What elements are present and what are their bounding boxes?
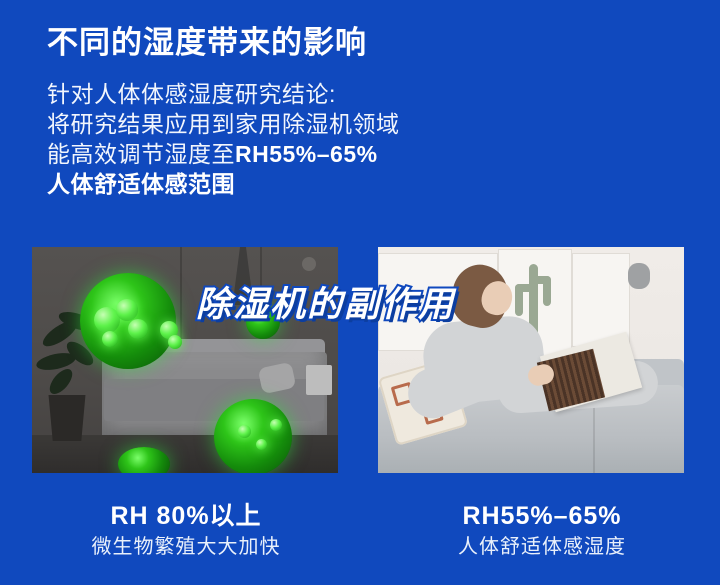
microbe-dot: [270, 419, 282, 431]
caption-left: RH 80%以上 微生物繁殖大大加快: [16, 500, 356, 562]
intro-line-2: 将研究结果应用到家用除湿机领域: [47, 109, 567, 139]
intro-line-3: 能高效调节湿度至RH55%–65%: [47, 139, 567, 169]
page-title: 不同的湿度带来的影响: [47, 17, 367, 62]
intro-line-4: 人体舒适体感范围: [47, 169, 567, 199]
plant-pot: [46, 395, 88, 441]
caption-left-main: RH 80%以上: [16, 500, 356, 532]
microbe-dot: [116, 299, 138, 321]
microbe-sphere: [118, 447, 170, 473]
side-table: [306, 365, 332, 395]
caption-right: RH55%–65% 人体舒适体感湿度: [372, 500, 712, 562]
microbe-dot: [256, 439, 267, 450]
caption-left-sub: 微生物繁殖大大加快: [16, 532, 356, 562]
caption-right-sub: 人体舒适体感湿度: [372, 532, 712, 562]
humidity-range-emphasis: RH55%–65%: [235, 141, 378, 167]
wall-seam: [180, 247, 182, 351]
humidity-infographic-poster: 不同的湿度带来的影响 针对人体体感湿度研究结论: 将研究结果应用到家用除湿机领域…: [0, 0, 720, 585]
microbe-dot: [168, 335, 182, 349]
sofa-seam: [593, 399, 595, 473]
microbe-dot: [102, 331, 118, 347]
caption-right-main: RH55%–65%: [372, 500, 712, 532]
microbe-dot: [238, 425, 251, 438]
microbe-dot: [128, 319, 148, 339]
microbe-sphere: [214, 399, 292, 473]
intro-text-block: 针对人体体感湿度研究结论: 将研究结果应用到家用除湿机领域 能高效调节湿度至RH…: [47, 79, 567, 199]
intro-line-3-prefix: 能高效调节湿度至: [47, 141, 235, 167]
intro-line-1: 针对人体体感湿度研究结论:: [47, 79, 567, 109]
wall-speaker: [628, 263, 650, 289]
overlay-headline: 除湿机的副作用: [196, 276, 455, 327]
wall-knob: [302, 257, 316, 271]
